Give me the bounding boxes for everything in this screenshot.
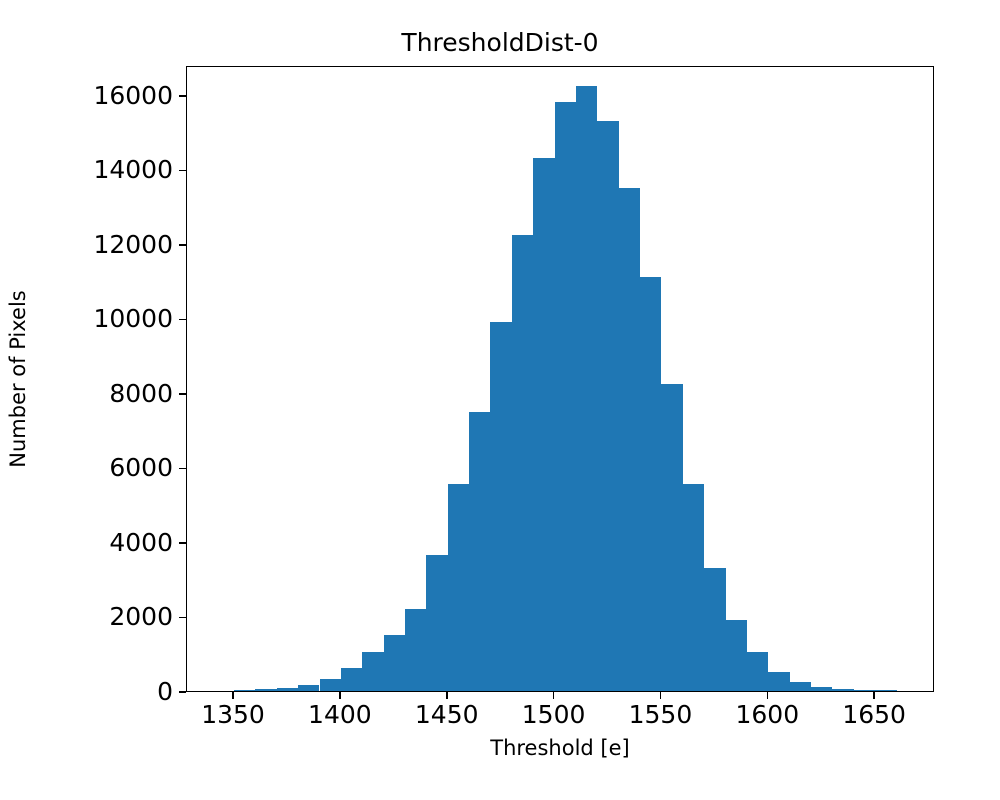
histogram-bar: [512, 235, 533, 691]
y-axis-label: Number of Pixels: [5, 290, 31, 467]
histogram-bar: [490, 322, 511, 691]
histogram-bar: [619, 188, 640, 691]
x-tick-mark: [446, 692, 448, 699]
x-tick-mark: [339, 692, 341, 699]
histogram-bar: [747, 652, 768, 691]
histogram-bar: [555, 102, 576, 691]
x-tick-label: 1350: [173, 700, 293, 730]
histogram-bar: [384, 635, 405, 691]
x-tick-label: 1550: [600, 700, 720, 730]
y-tick-mark: [179, 542, 186, 544]
histogram-bar: [640, 277, 661, 691]
histogram-bar: [341, 668, 362, 691]
x-axis-label: Threshold [e]: [186, 735, 934, 761]
histogram-bar: [854, 690, 875, 691]
y-tick-label: 2000: [23, 602, 173, 632]
histogram-bar: [768, 672, 789, 691]
histogram-bar: [426, 555, 447, 691]
y-tick-mark: [179, 691, 186, 693]
y-tick-mark: [179, 319, 186, 321]
y-tick-mark: [179, 393, 186, 395]
figure-canvas: ThresholdDist-0 135014001450150015501600…: [0, 0, 1000, 800]
y-tick-label: 8000: [23, 379, 173, 409]
y-tick-label: 14000: [23, 155, 173, 185]
histogram-bar: [320, 679, 341, 691]
histogram-bar: [661, 384, 682, 691]
histogram-bar: [726, 620, 747, 691]
histogram-bar: [704, 568, 725, 691]
histogram-bar: [683, 484, 704, 691]
histogram-bar: [832, 689, 853, 691]
x-tick-mark: [873, 692, 875, 699]
histogram-bar: [790, 682, 811, 691]
x-tick-label: 1450: [387, 700, 507, 730]
histogram-bar: [362, 652, 383, 691]
y-tick-label: 0: [23, 677, 173, 707]
plot-area: [186, 66, 934, 692]
histogram-bar: [298, 685, 319, 691]
y-tick-mark: [179, 468, 186, 470]
y-tick-label: 16000: [23, 81, 173, 111]
y-tick-label: 4000: [23, 528, 173, 558]
x-tick-mark: [553, 692, 555, 699]
histogram-bar: [597, 121, 618, 691]
y-axis-label-wrapper: Number of Pixels: [0, 66, 36, 692]
histogram-bar: [533, 158, 554, 691]
x-tick-mark: [767, 692, 769, 699]
histogram-bar: [448, 484, 469, 691]
x-tick-mark: [660, 692, 662, 699]
x-tick-label: 1500: [494, 700, 614, 730]
histogram-bar: [469, 412, 490, 691]
histogram-bar: [811, 687, 832, 691]
y-tick-mark: [179, 244, 186, 246]
y-tick-mark: [179, 617, 186, 619]
y-tick-mark: [179, 95, 186, 97]
x-tick-label: 1650: [814, 700, 934, 730]
chart-title: ThresholdDist-0: [0, 28, 1000, 58]
histogram-bars: [187, 67, 933, 691]
x-tick-label: 1400: [280, 700, 400, 730]
histogram-bar: [255, 689, 276, 691]
y-tick-label: 12000: [23, 230, 173, 260]
x-tick-mark: [232, 692, 234, 699]
histogram-bar: [234, 690, 255, 691]
histogram-bar: [875, 690, 896, 691]
x-tick-label: 1600: [707, 700, 827, 730]
histogram-bar: [576, 86, 597, 692]
y-tick-mark: [179, 170, 186, 172]
histogram-bar: [405, 609, 426, 691]
y-tick-label: 6000: [23, 453, 173, 483]
y-tick-label: 10000: [23, 304, 173, 334]
histogram-bar: [277, 688, 298, 691]
